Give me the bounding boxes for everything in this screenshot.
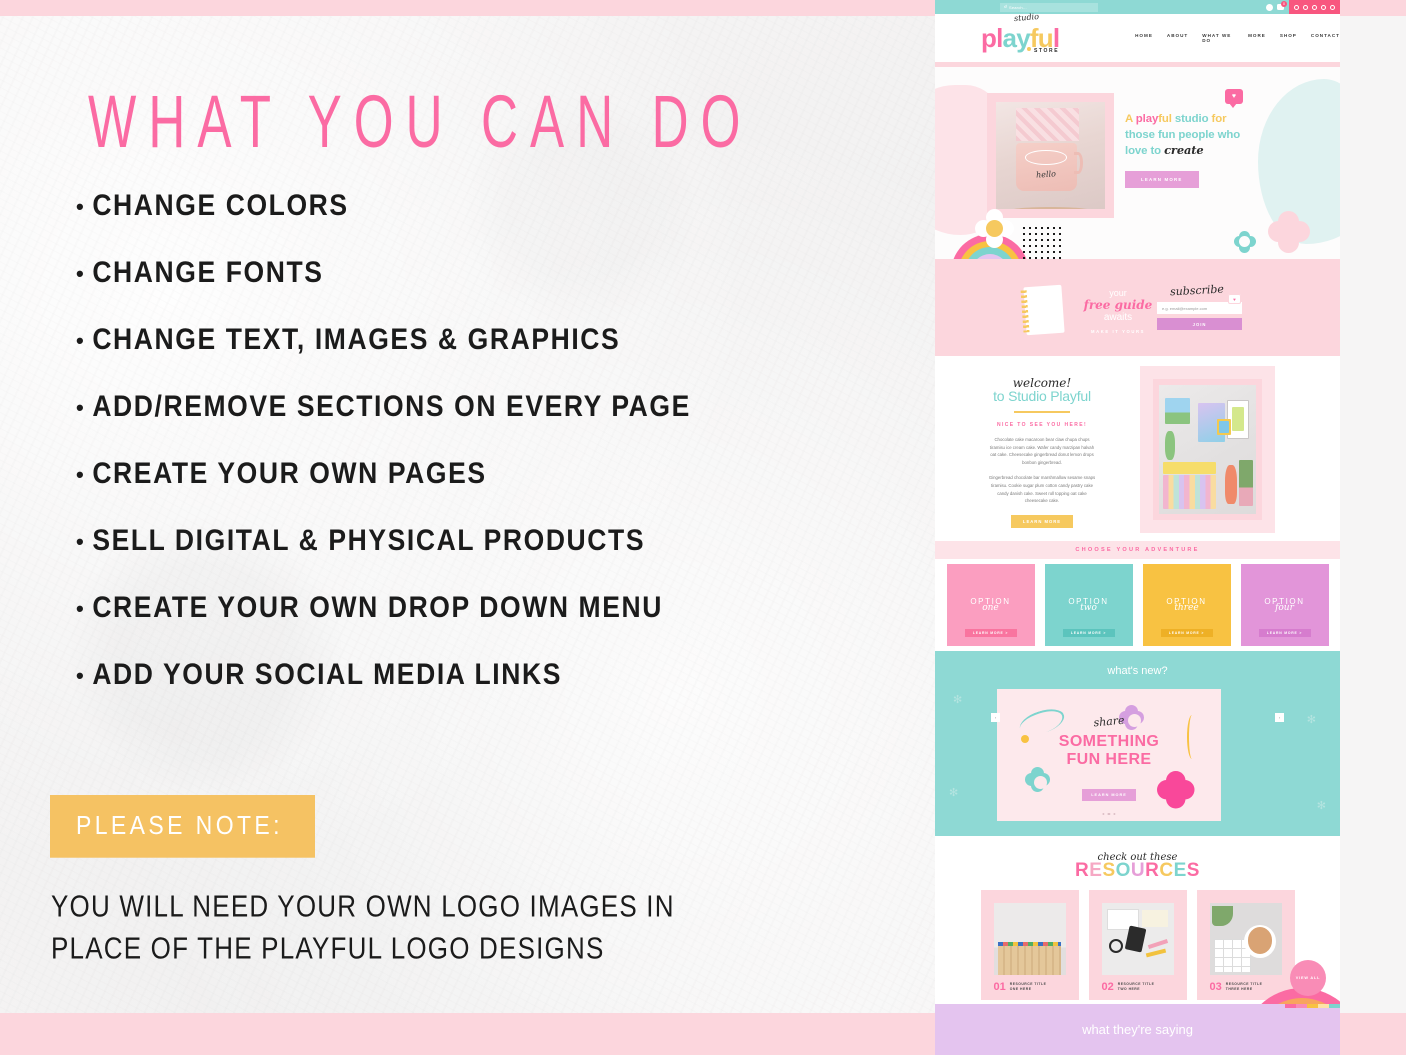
headline-line-2: those fun people who [1125,129,1240,141]
bullet-marker-icon: • [76,397,85,419]
search-placeholder: Search... [1009,5,1027,10]
resources-title: RESOURCES [935,860,1340,882]
option-cards-row: OPTION one LEARN MORE > OPTION two LEARN… [935,559,1340,651]
resource-title: RESOURCE TITLE TWO HERE [1118,982,1155,992]
list-item: • ADD/REMOVE SECTIONS ON EVERY PAGE [76,391,691,458]
subscribe-heading: subscribe [1170,283,1225,299]
list-item-label: CHANGE FONTS [92,255,323,290]
list-item: • CHANGE TEXT, IMAGES & GRAPHICS [76,324,691,391]
welcome-paragraph-2: Gingerbread chocolate bar marshmallow se… [987,474,1097,504]
hero-photo-frame: hello [987,93,1114,218]
nav-item-home[interactable]: HOME [1135,33,1153,43]
bullet-marker-icon: • [76,330,85,352]
site-utility-bar: ☌ Search... 0 [935,0,1340,14]
nav-item-about[interactable]: ABOUT [1167,33,1188,43]
carousel-next-icon[interactable]: › [1275,713,1284,722]
guide-headline: free guide [1083,298,1153,312]
slide-headline-line-1: SOMETHING [997,733,1221,751]
list-item: • CHANGE COLORS [76,190,691,257]
list-item-label: ADD/REMOVE SECTIONS ON EVERY PAGE [92,389,691,424]
welcome-title: to Studio Playful [987,388,1097,404]
slide-learn-more-button[interactable]: LEARN MORE [1082,789,1136,801]
headline-part-1: A [1125,113,1136,125]
resource-title-line-2: ONE HERE [1010,987,1032,991]
list-item: • ADD YOUR SOCIAL MEDIA LINKS [76,659,691,726]
choose-adventure-banner: CHOOSE YOUR ADVENTURE [935,541,1340,559]
option-number: three [1174,603,1198,613]
desk-supplies-photo [1102,903,1174,975]
resource-meta: 01 RESOURCE TITLE ONE HERE [994,981,1066,993]
headline-part-3: ful [1158,113,1172,125]
option-number: one [982,603,999,613]
right-background-gap [1340,0,1406,1055]
bottom-pink-border [0,1013,935,1055]
bullet-marker-icon: • [76,665,85,687]
envelope-icon: ♥ [1228,294,1241,304]
guide-kicker: MAKE IT YOURS [1083,329,1153,334]
carousel-dots[interactable] [1102,813,1115,815]
hero-section: hello A playful studio for those fun peo… [935,67,1340,259]
option-card-two[interactable]: OPTION two LEARN MORE > [1045,564,1133,646]
main-nav: HOME ABOUT WHAT WE DO MORE SHOP CONTACT [1135,33,1340,43]
option-card-one[interactable]: OPTION one LEARN MORE > [947,564,1035,646]
hero-headline: A playful studio for those fun people wh… [1125,112,1260,160]
nav-item-more[interactable]: MORE [1248,33,1266,43]
list-item-label: CREATE YOUR OWN DROP DOWN MENU [92,590,663,625]
nav-item-contact[interactable]: CONTACT [1311,33,1340,43]
top-pink-border [0,0,935,16]
carousel-dot[interactable] [1108,813,1110,815]
mug-bow [1025,150,1067,164]
bullet-marker-icon: • [76,464,85,486]
newsletter-join-button[interactable]: JOIN [1157,318,1242,330]
hero-learn-more-button[interactable]: LEARN MORE [1125,171,1199,188]
welcome-paragraph-1: Chocolate cake macaroon bear claw chupa … [987,436,1097,466]
cart-button[interactable]: 0 [1277,4,1284,10]
slide-script-word: share [1093,714,1125,730]
instagram-icon[interactable] [1294,5,1299,10]
email-placeholder: e.g. email@example.com [1162,306,1207,311]
notebook-illustration [1023,285,1064,336]
list-item: • CREATE YOUR OWN PAGES [76,458,691,525]
bullet-marker-icon: • [76,263,85,285]
heart-icon: ♥ [1225,89,1243,104]
hero-mug-photo: hello [996,102,1105,209]
welcome-divider [1014,411,1070,413]
resource-title-line-2: TWO HERE [1118,987,1140,991]
list-item: • SELL DIGITAL & PHYSICAL PRODUCTS [76,525,691,592]
utility-bar-right: 0 [1266,0,1340,14]
resource-card-01[interactable]: 01 RESOURCE TITLE ONE HERE [981,890,1079,1000]
resource-title-line-1: RESOURCE TITLE [1118,982,1155,986]
site-logo[interactable]: studio playful STORE [981,25,1075,51]
guide-awaits-label: awaits [1083,312,1153,323]
pink-flower-decoration [1268,211,1310,253]
daisy-center [986,220,1003,237]
carousel-dot[interactable] [1113,813,1115,815]
option-learn-more-button[interactable]: LEARN MORE > [1259,629,1311,637]
sparkle-icon: ✻ [953,693,962,706]
option-learn-more-button[interactable]: LEARN MORE > [1063,629,1115,637]
option-card-three[interactable]: OPTION three LEARN MORE > [1143,564,1231,646]
newsletter-section: your free guide awaits MAKE IT YOURS sub… [935,264,1340,356]
carousel-slide: share SOMETHING FUN HERE LEARN MORE [997,689,1221,821]
resource-number: 02 [1102,981,1114,993]
account-icon[interactable] [1266,4,1273,11]
sparkle-icon: ✻ [1317,799,1326,812]
bullet-marker-icon: • [76,598,85,620]
list-item-label: CREATE YOUR OWN PAGES [92,456,486,491]
logo-sub-word: STORE [1034,48,1059,54]
resource-title: RESOURCE TITLE ONE HERE [1010,982,1047,992]
feature-bullet-list: • CHANGE COLORS • CHANGE FONTS • CHANGE … [76,190,691,726]
option-number: four [1275,603,1294,613]
facebook-icon[interactable] [1303,5,1308,10]
resources-section: check out these RESOURCES 01 RESOURCE TI… [935,836,1340,1004]
carousel-prev-icon[interactable]: ‹ [991,713,1000,722]
list-item: • CREATE YOUR OWN DROP DOWN MENU [76,592,691,659]
resource-card-02[interactable]: 02 RESOURCE TITLE TWO HERE [1089,890,1187,1000]
option-number: two [1080,603,1097,613]
website-mockup-preview: ☌ Search... 0 studio playful [935,0,1340,1055]
site-header: studio playful STORE HOME ABOUT WHAT WE … [935,14,1340,62]
list-item-label: ADD YOUR SOCIAL MEDIA LINKS [92,657,562,692]
carousel-dot[interactable] [1102,813,1104,815]
resource-number: 01 [994,981,1006,993]
bullet-marker-icon: • [76,196,85,218]
pencils-photo [994,903,1066,975]
bottom-pink-border-right [1340,1013,1406,1055]
please-note-badge: PLEASE NOTE: [50,795,315,858]
note-paragraph: YOU WILL NEED YOUR OWN LOGO IMAGES IN PL… [51,885,675,969]
mug-handle [1074,152,1084,174]
search-input[interactable]: ☌ Search... [1000,3,1098,12]
mug-graphic: hello [1016,143,1077,191]
view-all-button[interactable]: VIEW ALL [1290,960,1326,996]
option-card-four[interactable]: OPTION four LEARN MORE > [1241,564,1329,646]
resources-script-heading: check out these [935,836,1340,863]
choose-adventure-title: CHOOSE YOUR ADVENTURE [1075,547,1199,553]
headline-part-5: for [1208,113,1226,125]
welcome-kicker: NICE TO SEE YOU HERE! [987,422,1097,428]
resource-title-line-1: RESOURCE TITLE [1010,982,1047,986]
headline-script-word: create [1164,143,1203,157]
headline-part-2: play [1136,113,1158,125]
bullet-marker-icon: • [76,531,85,553]
social-links-bar [1289,0,1340,14]
welcome-section: welcome! to Studio Playful NICE TO SEE Y… [935,356,1340,541]
dot-pattern-decoration [1021,225,1061,259]
sparkle-icon: ✻ [949,786,958,799]
search-icon: ☌ [1004,5,1007,9]
top-pink-border-right [1340,0,1406,16]
left-content-panel: WHAT YOU CAN DO • CHANGE COLORS • CHANGE… [0,0,935,1055]
whats-new-section: what's new? ✻ ✻ ✻ ✻ share [935,651,1340,836]
welcome-photo-frame [1140,366,1275,533]
sparkle-icon: ✻ [1307,713,1316,726]
slide-headline-line-2: FUN HERE [997,751,1221,769]
list-item-label: CHANGE TEXT, IMAGES & GRAPHICS [92,322,620,357]
welcome-text-block: welcome! to Studio Playful NICE TO SEE Y… [987,376,1097,528]
logo-dot-icon [1027,47,1031,51]
daisy-flower-icon [975,209,1015,249]
headline-part-4: studio [1172,113,1209,125]
page-title: WHAT YOU CAN DO [88,78,752,164]
list-item-label: CHANGE COLORS [92,188,348,223]
nav-item-what-we-do[interactable]: WHAT WE DO [1202,33,1234,43]
nav-item-shop[interactable]: SHOP [1280,33,1297,43]
whats-new-title: what's new? [935,651,1340,677]
resource-number: 03 [1210,981,1222,993]
list-item-label: SELL DIGITAL & PHYSICAL PRODUCTS [92,523,645,558]
guide-your-label: your [1083,288,1153,298]
list-item: • CHANGE FONTS [76,257,691,324]
testimonials-section: what they're saying [935,1004,1340,1055]
free-guide-text: your free guide awaits MAKE IT YOURS [1083,288,1153,334]
headline-line-3: love to [1125,145,1164,157]
color-stripes-decoration [1285,1004,1340,1008]
option-learn-more-button[interactable]: LEARN MORE > [965,629,1017,637]
mug-caption: hello [1036,169,1056,179]
cart-count-badge: 0 [1281,1,1287,7]
note-line-2: PLACE OF THE PLAYFUL LOGO DESIGNS [51,924,675,973]
option-learn-more-button[interactable]: LEARN MORE > [1161,629,1213,637]
coffee-photo [1210,903,1282,975]
teal-flower-decoration [1234,231,1256,253]
resource-meta: 02 RESOURCE TITLE TWO HERE [1102,981,1174,993]
twitter-icon[interactable] [1330,5,1335,10]
testimonials-title: what they're saying [935,1004,1340,1037]
mug-saucer [1007,207,1094,209]
welcome-learn-more-button[interactable]: LEARN MORE [1011,515,1073,528]
welcome-photo-inner-frame [1153,379,1262,520]
pinterest-icon[interactable] [1312,5,1317,10]
tiktok-icon[interactable] [1321,5,1326,10]
workspace-photo [1159,385,1256,514]
logo-script-word: studio [1014,12,1040,23]
